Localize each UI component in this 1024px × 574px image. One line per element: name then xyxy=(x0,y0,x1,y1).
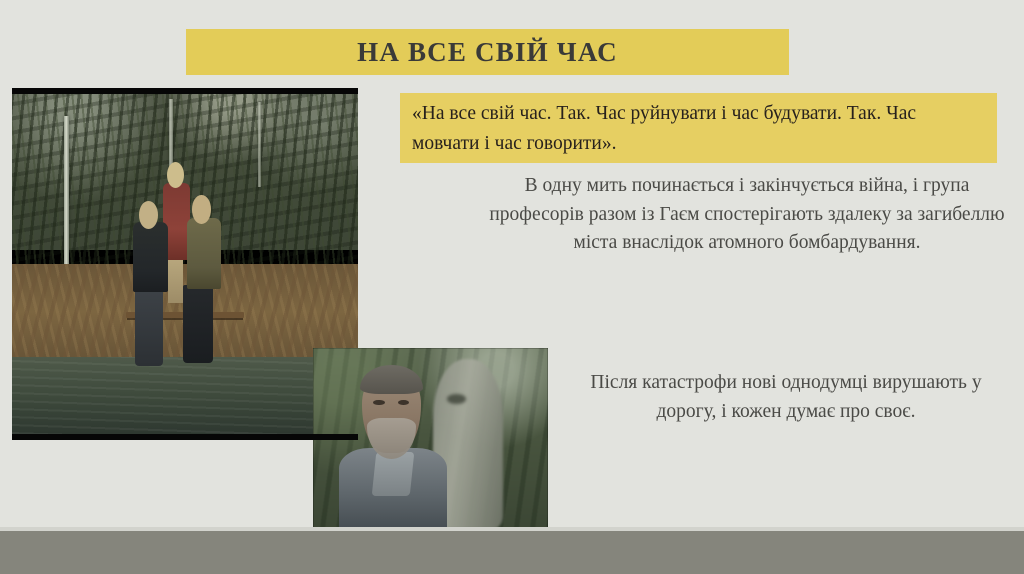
seated-left-head xyxy=(139,201,158,229)
seated-right-head xyxy=(192,195,211,223)
birch-trunk xyxy=(64,116,69,285)
seated-left-body xyxy=(133,222,168,292)
letterbox-bottom-bar xyxy=(12,434,358,440)
statue-scene xyxy=(313,348,548,533)
paragraph-war: В одну мить починається і закінчується в… xyxy=(487,172,1007,258)
page-title: НА ВСЕ СВІЙ ЧАС xyxy=(357,37,618,68)
standing-person-legs xyxy=(168,257,184,303)
statue-eye xyxy=(447,394,466,403)
footer-bar xyxy=(0,531,1024,574)
photo-forest-pond xyxy=(12,88,358,440)
seated-right-legs xyxy=(183,285,212,362)
forest-scene xyxy=(12,88,358,440)
quote-box: «На все свій час. Так. Час руйнувати і ч… xyxy=(400,93,997,163)
quote-text: «На все свій час. Так. Час руйнувати і ч… xyxy=(412,99,987,159)
letterbox-top-bar xyxy=(12,88,358,94)
paragraph-journey: Після катастрофи нові однодумці вирушают… xyxy=(566,369,1006,426)
title-banner: НА ВСЕ СВІЙ ЧАС xyxy=(186,29,789,75)
birch-trunk xyxy=(258,102,261,186)
forest-pond-water xyxy=(12,357,358,434)
photo-man-statue xyxy=(313,348,548,533)
seated-right-body xyxy=(187,218,222,288)
seated-left-legs xyxy=(135,289,163,366)
slide-canvas: НА ВСЕ СВІЙ ЧАС «На все свій час. Так xyxy=(0,0,1024,574)
